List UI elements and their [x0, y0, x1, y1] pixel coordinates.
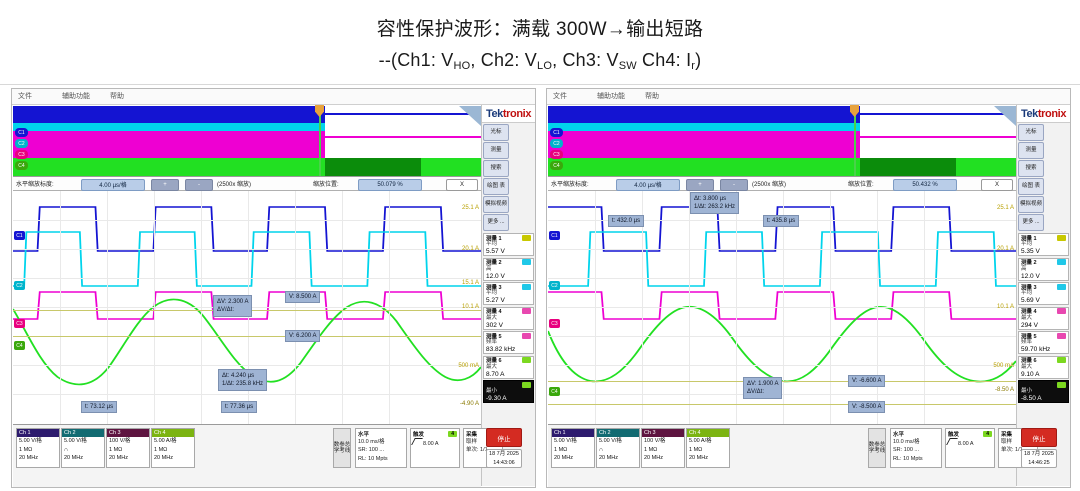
axis-label-l0: 25.1 A: [462, 205, 479, 211]
cursor-v2-left[interactable]: V: 6.200 A: [285, 330, 320, 342]
math-ref-bus-button-right[interactable]: 数学参考总线: [868, 428, 886, 468]
plot-button-right[interactable]: 绘图 表: [1018, 178, 1044, 195]
cursor-v2-right[interactable]: V: -8.500 A: [848, 401, 885, 413]
measurement-value: 8.70 A: [486, 371, 531, 379]
measurement-value: 59.70 kHz: [1021, 346, 1066, 354]
measurement-title: 测量 2: [1021, 258, 1037, 266]
cursor-delta-v-right[interactable]: ΔV: 1.900 A ΔV/Δt:: [743, 377, 782, 399]
zoom-scale-value-left[interactable]: 4.00 µs/格: [81, 179, 145, 191]
measurement-header: 测量 1: [1021, 234, 1066, 241]
time-text: 14:46:25: [1022, 459, 1056, 468]
channel-card-right-3[interactable]: Ch 3100 V/格1 MΩ20 MHz: [641, 428, 685, 468]
measurement-title: 测量 4: [1021, 307, 1037, 315]
measurement-type: 最大: [486, 364, 531, 371]
plot-column-right: C1 C2 C3 C4 水平缩放标度: 4.00 µs/格 + - (2500x…: [547, 105, 1017, 486]
zoom-position-label-left: 缩放位置:: [313, 179, 339, 188]
measurement-card-right-3[interactable]: 测量 3平均5.69 V: [1018, 282, 1069, 305]
measurement-channel-chip: [522, 284, 531, 290]
zoom-close-button-left[interactable]: X: [446, 179, 478, 191]
title-sub-ho: HO: [453, 60, 470, 72]
axis-label-r1: 20.1 A: [997, 246, 1014, 252]
measure-button-left[interactable]: 测量: [483, 142, 509, 159]
menu-file-right[interactable]: 文件: [553, 91, 567, 101]
channel-bandwidth: 20 MHz: [62, 454, 104, 463]
wave-badge-c4-left[interactable]: C4: [14, 341, 25, 350]
measurement-value: 5.35 V: [1021, 248, 1066, 256]
measurement-card-right-7[interactable]: 最小-8.50 A: [1018, 380, 1069, 403]
measurement-channel-chip: [522, 259, 531, 265]
measurement-type: 最大: [486, 315, 531, 322]
axis-label-l2: 15.1 A: [462, 280, 479, 286]
measurement-title: 测量 6: [1021, 356, 1037, 364]
menu-bar-left: 文件 辅助功能 帮助: [12, 89, 535, 105]
measurement-type: 平均: [1021, 290, 1066, 297]
horizontal-scale: 10.0 ms/格: [891, 438, 941, 446]
channel-bandwidth: 20 MHz: [17, 454, 59, 463]
overview-blank2-r: [860, 123, 1016, 158]
title-l2-mid1: , Ch2: V: [470, 50, 537, 70]
overview-ch1-tail: [325, 113, 481, 115]
logo-tronix: tronix: [503, 108, 531, 120]
measurement-type: 最大: [1021, 315, 1066, 322]
measure-button-right[interactable]: 测量: [1018, 142, 1044, 159]
measurement-title: 测量 6: [486, 356, 502, 364]
trigger-info-card-right[interactable]: 触发48.00 A: [945, 428, 995, 468]
channel-impedance: 1 MΩ: [552, 446, 594, 455]
menu-bar-right: 文件 辅助功能 帮助: [547, 89, 1070, 105]
axis-label-l3: 10.1 A: [462, 304, 479, 310]
measurement-card-left-4[interactable]: 测量 4最大302 V: [483, 307, 534, 330]
measurement-type: 最小: [486, 388, 531, 395]
analog-video-button-right[interactable]: 模拟视频: [1018, 196, 1044, 213]
tektronix-logo-left: Tektronix: [482, 105, 535, 123]
measurement-value: 12.0 V: [1021, 273, 1066, 281]
menu-utility-right[interactable]: 辅助功能: [597, 91, 625, 101]
measurement-title: 测量 2: [486, 258, 502, 266]
overview-badge-c2[interactable]: C2: [15, 139, 28, 148]
more-button-left[interactable]: 更多 ...: [483, 214, 509, 231]
channel-bandwidth: 20 MHz: [642, 454, 684, 463]
horizontal-sample-rate: SR: 100 ...: [891, 446, 941, 454]
overview-badge-c2-r[interactable]: C2: [550, 139, 563, 148]
channel-card-left-2[interactable]: Ch 25.00 V/格∩20 MHz: [61, 428, 105, 468]
cursor-dv-right: ΔV: 1.900 A: [747, 380, 778, 388]
measurement-header: 测量 5: [486, 332, 531, 339]
zoom-increase-button-left[interactable]: +: [151, 179, 179, 191]
measurement-header: 测量 3: [1021, 283, 1066, 290]
measurement-type: 平均: [486, 290, 531, 297]
tektronix-logo-right: Tektronix: [1017, 105, 1070, 123]
wave-badge-c2-left[interactable]: C2: [14, 281, 25, 290]
trigger-source-chip: 4: [448, 431, 457, 437]
horizontal-title: 水平: [356, 429, 406, 438]
title-l2-mid2: , Ch3: V: [552, 50, 619, 70]
channel-impedance: ∩: [62, 446, 104, 455]
zoom-scale-value-right[interactable]: 4.00 µs/格: [616, 179, 680, 191]
channel-name: Ch 1: [17, 429, 59, 437]
zoom-position-label-right: 缩放位置:: [848, 179, 874, 188]
measurement-title: 测量 4: [486, 307, 502, 315]
search-button-right[interactable]: 搜索: [1018, 160, 1044, 177]
channel-impedance: ∩: [597, 446, 639, 455]
measurement-header: [1021, 381, 1066, 388]
measurement-channel-chip: [1057, 259, 1066, 265]
title-line-1: 容性保护波形：满载 300W→输出短路: [377, 14, 704, 41]
stop-button-right[interactable]: 停止: [1021, 428, 1057, 447]
measurement-type: 频率: [486, 339, 531, 346]
measurement-type: 最小: [1021, 388, 1066, 395]
channel-name: Ch 3: [107, 429, 149, 437]
channel-card-left-3[interactable]: Ch 3100 V/格1 MΩ20 MHz: [106, 428, 150, 468]
channel-scale: 5.00 V/格: [552, 437, 594, 446]
title-sub-r: r: [691, 60, 695, 72]
cursor-invdt-left: 1/Δt: 235.8 kHz: [222, 380, 263, 388]
plot-column-left: C1 C2 C3 C4 水平缩放标度: 4.00 µs/格 + - (2500x…: [12, 105, 482, 486]
measurement-channel-chip: [1057, 235, 1066, 241]
measurement-type: 平均: [1021, 241, 1066, 248]
trigger-header: 触发4: [946, 429, 994, 438]
channel-card-left-4[interactable]: Ch 45.00 A/格1 MΩ20 MHz: [151, 428, 195, 468]
axis-label-l5: -4.90 A: [460, 401, 479, 407]
side-button-grid-left: 光标 测量 搜索 绘图 表 模拟视频 更多 ...: [482, 123, 535, 232]
channel-name: Ch 4: [687, 429, 729, 437]
datetime-box-left[interactable]: 18 7月 202514:43:06: [486, 449, 522, 468]
measurement-type: 高: [486, 266, 531, 273]
scope-window-left: 文件 辅助功能 帮助 Tektronix 光标 测量 搜索 绘图 表 模拟视频 …: [11, 88, 536, 488]
channel-name: Ch 2: [62, 429, 104, 437]
zoom-position-value-left[interactable]: 50.079 %: [358, 179, 422, 191]
measurement-header: 测量 6: [486, 357, 531, 364]
trigger-title: 触发: [948, 430, 959, 438]
logo-tronix-r: tronix: [1038, 108, 1066, 120]
more-button-right[interactable]: 更多 ...: [1018, 214, 1044, 231]
measurement-card-right-2[interactable]: 测量 2高12.0 V: [1018, 258, 1069, 281]
measurement-header: 测量 5: [1021, 332, 1066, 339]
measurement-card-right-1[interactable]: 测量 1平均5.35 V: [1018, 233, 1069, 256]
waveform-canvas-right[interactable]: C1 C2 C3 C4 25.1 A 20.1 A 10.1 A 500 mA …: [548, 191, 1016, 425]
waveform-canvas-left[interactable]: C1 C2 C3 C4 25.1 A 20.1 A 15.1 A 10.1 A …: [13, 191, 481, 425]
measurement-value: 294 V: [1021, 322, 1066, 330]
channel-name: Ch 4: [152, 429, 194, 437]
measurement-channel-chip: [1057, 382, 1066, 388]
overview-badge-c4[interactable]: C4: [15, 161, 28, 170]
overview-ch4-dark-r: [860, 158, 956, 176]
zoom-scale-label-left: 水平缩放标度:: [16, 179, 54, 188]
measurement-card-left-6[interactable]: 测量 6最大8.70 A: [483, 356, 534, 379]
date-text: 18 7月 2025: [487, 450, 521, 459]
measurement-channel-chip: [522, 308, 531, 314]
axis-label-l1: 20.1 A: [462, 246, 479, 252]
channel-name: Ch 3: [642, 429, 684, 437]
analog-video-button-left[interactable]: 模拟视频: [483, 196, 509, 213]
time-text: 14:43:06: [487, 459, 521, 468]
cursor-invdt-right: 1/Δt: 263.2 kHz: [694, 203, 735, 211]
wave-badge-c3-left[interactable]: C3: [14, 319, 25, 328]
math-ref-bus-line: 总线: [345, 442, 351, 455]
zoom-decrease-button-left[interactable]: -: [185, 179, 213, 191]
channel-bandwidth: 20 MHz: [552, 454, 594, 463]
wave-badge-c2-right[interactable]: C2: [549, 281, 560, 290]
trigger-source-chip: 4: [983, 431, 992, 437]
measurement-card-left-5[interactable]: 测量 5频率83.82 kHz: [483, 331, 534, 354]
horizontal-sample-rate: SR: 100 ...: [356, 446, 406, 454]
zoom-close-button-right[interactable]: X: [981, 179, 1013, 191]
menu-help-right[interactable]: 帮助: [645, 91, 659, 101]
channel-card-right-4[interactable]: Ch 45.00 A/格1 MΩ20 MHz: [686, 428, 730, 468]
measurement-channel-chip: [522, 357, 531, 363]
title-separator: [0, 84, 1080, 85]
horizontal-record-length: RL: 10 Mpts: [891, 455, 941, 463]
cursor-dt-left: Δt: 4.240 µs: [222, 372, 263, 380]
measurement-header: 测量 2: [486, 259, 531, 266]
overview-badge-c3-r[interactable]: C3: [550, 150, 563, 159]
cursor-t1-right[interactable]: t: 432.0 µs: [608, 215, 644, 227]
trigger-level-row: 8.00 A: [411, 438, 459, 448]
menu-utility-left[interactable]: 辅助功能: [62, 91, 90, 101]
cursor-t2-right[interactable]: t: 435.8 µs: [763, 215, 799, 227]
figure-title-block: 容性保护波形：满载 300W→输出短路 --(Ch1: VHO, Ch2: VL…: [0, 0, 1080, 84]
channel-card-right-2[interactable]: Ch 25.00 V/格∩20 MHz: [596, 428, 640, 468]
measurement-header: [486, 381, 531, 388]
measurement-card-left-1[interactable]: 测量 1平均5.57 V: [483, 233, 534, 256]
stop-button-left[interactable]: 停止: [486, 428, 522, 447]
title-line-2: --(Ch1: VHO, Ch2: VLO, Ch3: VSW Ch4: Ir): [379, 50, 702, 71]
measurement-channel-chip: [522, 382, 531, 388]
wave-badge-c1-left[interactable]: C1: [14, 231, 25, 240]
zoom-position-value-right[interactable]: 50.432 %: [893, 179, 957, 191]
measurement-header: 测量 4: [486, 308, 531, 315]
math-ref-bus-line: 总线: [880, 442, 886, 455]
overview-blank1-r: [860, 106, 1016, 123]
measurement-value: -9.30 A: [486, 395, 531, 403]
channel-scale: 5.00 A/格: [687, 437, 729, 446]
zoom-scale-bar-left: 水平缩放标度: 4.00 µs/格 + - (2500x 缩放) 缩放位置: 5…: [13, 177, 481, 191]
cursor-delta-t-right[interactable]: Δt: 3.800 µs 1/Δt: 263.2 kHz: [690, 192, 739, 214]
cursor-dt-right: Δt: 3.800 µs: [694, 195, 735, 203]
horizontal-record-length: RL: 10 Mpts: [356, 455, 406, 463]
measurement-channel-chip: [1057, 333, 1066, 339]
measurement-card-right-4[interactable]: 测量 4最大294 V: [1018, 307, 1069, 330]
wave-badge-c1-right[interactable]: C1: [549, 231, 560, 240]
trigger-title: 触发: [413, 430, 424, 438]
side-button-grid-right: 光标 测量 搜索 绘图 表 模拟视频 更多 ...: [1017, 123, 1070, 232]
measurement-header: 测量 6: [1021, 357, 1066, 364]
axis-label-r3: 500 mA: [993, 363, 1014, 369]
overview-ch4-dark: [325, 158, 421, 176]
measurement-value: 5.57 V: [486, 248, 531, 256]
overview-ch3-tail: [325, 136, 481, 138]
axis-label-r4: -8.50 A: [995, 387, 1014, 393]
zoom-scale-label-right: 水平缩放标度:: [551, 179, 589, 188]
trigger-edge-icon: [411, 438, 423, 445]
channel-scale: 100 V/格: [642, 437, 684, 446]
measurement-value: 12.0 V: [486, 273, 531, 281]
overview-ch1-tail-r: [860, 113, 1016, 115]
logo-tek: Tek: [486, 108, 503, 120]
overview-badge-c3[interactable]: C3: [15, 150, 28, 159]
cursor-button-left[interactable]: 光标: [483, 124, 509, 141]
title-l2-mid3: Ch4: I: [637, 50, 691, 70]
trigger-level-row: 8.00 A: [946, 438, 994, 448]
measurement-value: 5.69 V: [1021, 297, 1066, 305]
measurement-channel-chip: [522, 235, 531, 241]
horizontal-info-card-left[interactable]: 水平10.0 ms/格SR: 100 ...RL: 10 Mpts: [355, 428, 407, 468]
channel-bandwidth: 20 MHz: [687, 454, 729, 463]
axis-label-l4: 500 mA: [458, 363, 479, 369]
cursor-dv-left: ΔV: 2.300 A: [217, 298, 248, 306]
zoom-decrease-button-right[interactable]: -: [720, 179, 748, 191]
channel-name: Ch 2: [597, 429, 639, 437]
trigger-level-value: 8.00 A: [958, 441, 974, 447]
overview-badge-c1[interactable]: C1: [15, 128, 28, 137]
measurement-header: 测量 3: [486, 283, 531, 290]
trigger-header: 触发4: [411, 429, 459, 438]
cursor-t2-left[interactable]: t: 77.36 µs: [221, 401, 257, 413]
measurement-type: 最大: [1021, 364, 1066, 371]
menu-file-left[interactable]: 文件: [18, 91, 32, 101]
datetime-box-right[interactable]: 18 7月 202514:46:25: [1021, 449, 1057, 468]
channel-name: Ch 1: [552, 429, 594, 437]
measurement-value: 9.10 A: [1021, 371, 1066, 379]
screenshot-root: 容性保护波形：满载 300W→输出短路 --(Ch1: VHO, Ch2: VL…: [0, 0, 1080, 491]
cursor-dvdt-right: ΔV/Δt:: [747, 388, 778, 396]
measurement-header: 测量 1: [486, 234, 531, 241]
measurement-value: -8.50 A: [1021, 395, 1066, 403]
measurement-value: 83.82 kHz: [486, 346, 531, 354]
cursor-v1-right[interactable]: V: -6.600 A: [848, 375, 885, 387]
scope-body-left: Tektronix 光标 测量 搜索 绘图 表 模拟视频 更多 ... 测量 1…: [12, 105, 535, 486]
channel-impedance: 1 MΩ: [17, 446, 59, 455]
bottom-bar-right: Ch 15.00 V/格1 MΩ20 MHzCh 25.00 V/格∩20 MH…: [548, 425, 1016, 487]
math-ref-bus-button-left[interactable]: 数学参考总线: [333, 428, 351, 468]
measurement-list-right: 测量 1平均5.35 V测量 2高12.0 V测量 3平均5.69 V测量 4最…: [1017, 232, 1070, 403]
measurement-card-right-6[interactable]: 测量 6最大9.10 A: [1018, 356, 1069, 379]
measurement-channel-chip: [522, 333, 531, 339]
measurement-list-left: 测量 1平均5.57 V测量 2高12.0 V测量 3平均5.27 V测量 4最…: [482, 232, 535, 403]
overview-strip-left[interactable]: C1 C2 C3 C4: [13, 106, 481, 177]
measurement-card-left-7[interactable]: 最小-9.30 A: [483, 380, 534, 403]
measurement-type: 平均: [486, 241, 531, 248]
channel-scale: 5.00 A/格: [152, 437, 194, 446]
horizontal-title: 水平: [891, 429, 941, 438]
trigger-info-card-left[interactable]: 触发48.00 A: [410, 428, 460, 468]
channel-bandwidth: 20 MHz: [152, 454, 194, 463]
channel-impedance: 1 MΩ: [687, 446, 729, 455]
cursor-dvdt-left: ΔV/Δt:: [217, 306, 248, 314]
channel-scale: 5.00 V/格: [62, 437, 104, 446]
bottom-bar-left: Ch 15.00 V/格1 MΩ20 MHzCh 25.00 V/格∩20 MH…: [13, 425, 481, 487]
title-l2-end: ): [695, 50, 701, 70]
overview-badge-c1-r[interactable]: C1: [550, 128, 563, 137]
zoom-factor-label-left: (2500x 缩放): [217, 179, 251, 188]
measurement-channel-chip: [1057, 308, 1066, 314]
measurement-channel-chip: [1057, 357, 1066, 363]
menu-help-left[interactable]: 帮助: [110, 91, 124, 101]
date-text: 18 7月 2025: [1022, 450, 1056, 459]
axis-label-r2: 10.1 A: [997, 304, 1014, 310]
axis-label-r0: 25.1 A: [997, 205, 1014, 211]
channel-scale: 5.00 V/格: [597, 437, 639, 446]
cursor-v1-left[interactable]: V: 8.500 A: [285, 291, 320, 303]
horizontal-info-card-right[interactable]: 水平10.0 ms/格SR: 100 ...RL: 10 Mpts: [890, 428, 942, 468]
measurement-type: 频率: [1021, 339, 1066, 346]
measurement-header: 测量 4: [1021, 308, 1066, 315]
channel-bandwidth: 20 MHz: [597, 454, 639, 463]
trigger-edge-icon: [946, 438, 958, 445]
wave-badge-c4-right[interactable]: C4: [549, 387, 560, 396]
channel-card-left-1[interactable]: Ch 15.00 V/格1 MΩ20 MHz: [16, 428, 60, 468]
cursor-delta-v-left[interactable]: ΔV: 2.300 A ΔV/Δt:: [213, 295, 252, 317]
channel-impedance: 1 MΩ: [107, 446, 149, 455]
cursor-delta-t-left[interactable]: Δt: 4.240 µs 1/Δt: 235.8 kHz: [218, 369, 267, 391]
title-sub-lo: LO: [537, 60, 552, 72]
channel-impedance: 1 MΩ: [152, 446, 194, 455]
cursor-hline-b-left[interactable]: [13, 336, 481, 337]
measurement-header: 测量 2: [1021, 259, 1066, 266]
measurement-channel-chip: [1057, 284, 1066, 290]
channel-scale: 5.00 V/格: [17, 437, 59, 446]
overview-post-trigger-blank1: [325, 106, 481, 123]
channel-bandwidth: 20 MHz: [107, 454, 149, 463]
channel-card-right-1[interactable]: Ch 15.00 V/格1 MΩ20 MHz: [551, 428, 595, 468]
scope-body-right: Tektronix 光标 测量 搜索 绘图 表 模拟视频 更多 ... 测量 1…: [547, 105, 1070, 486]
horizontal-scale: 10.0 ms/格: [356, 438, 406, 446]
cursor-button-right[interactable]: 光标: [1018, 124, 1044, 141]
search-button-left[interactable]: 搜索: [483, 160, 509, 177]
title-sub-sw: SW: [619, 60, 637, 72]
wave-badge-c3-right[interactable]: C3: [549, 319, 560, 328]
measurement-value: 302 V: [486, 322, 531, 330]
measurement-card-right-5[interactable]: 测量 5频率59.70 kHz: [1018, 331, 1069, 354]
zoom-increase-button-right[interactable]: +: [686, 179, 714, 191]
plot-button-left[interactable]: 绘图 表: [483, 178, 509, 195]
trigger-level-value: 8.00 A: [423, 441, 439, 447]
measurement-card-left-3[interactable]: 测量 3平均5.27 V: [483, 282, 534, 305]
zoom-scale-bar-right: 水平缩放标度: 4.00 µs/格 + - (2500x 缩放) 缩放位置: 5…: [548, 177, 1016, 191]
overview-strip-right[interactable]: C1 C2 C3 C4: [548, 106, 1016, 177]
overview-ch3-tail-r: [860, 136, 1016, 138]
zoom-factor-label-right: (2500x 缩放): [752, 179, 786, 188]
measurement-value: 5.27 V: [486, 297, 531, 305]
overview-badge-c4-r[interactable]: C4: [550, 161, 563, 170]
cursor-t1-left[interactable]: t: 73.12 µs: [81, 401, 117, 413]
title-l2-pre: --(Ch1: V: [379, 50, 454, 70]
logo-tek-r: Tek: [1021, 108, 1038, 120]
scope-window-right: 文件 辅助功能 帮助 Tektronix 光标 测量 搜索 绘图 表 模拟视频 …: [546, 88, 1071, 488]
measurement-type: 高: [1021, 266, 1066, 273]
cursor-hline-b-right[interactable]: [548, 404, 1016, 405]
overview-post-trigger-blank2: [325, 123, 481, 158]
channel-impedance: 1 MΩ: [642, 446, 684, 455]
measurement-card-left-2[interactable]: 测量 2高12.0 V: [483, 258, 534, 281]
channel-scale: 100 V/格: [107, 437, 149, 446]
